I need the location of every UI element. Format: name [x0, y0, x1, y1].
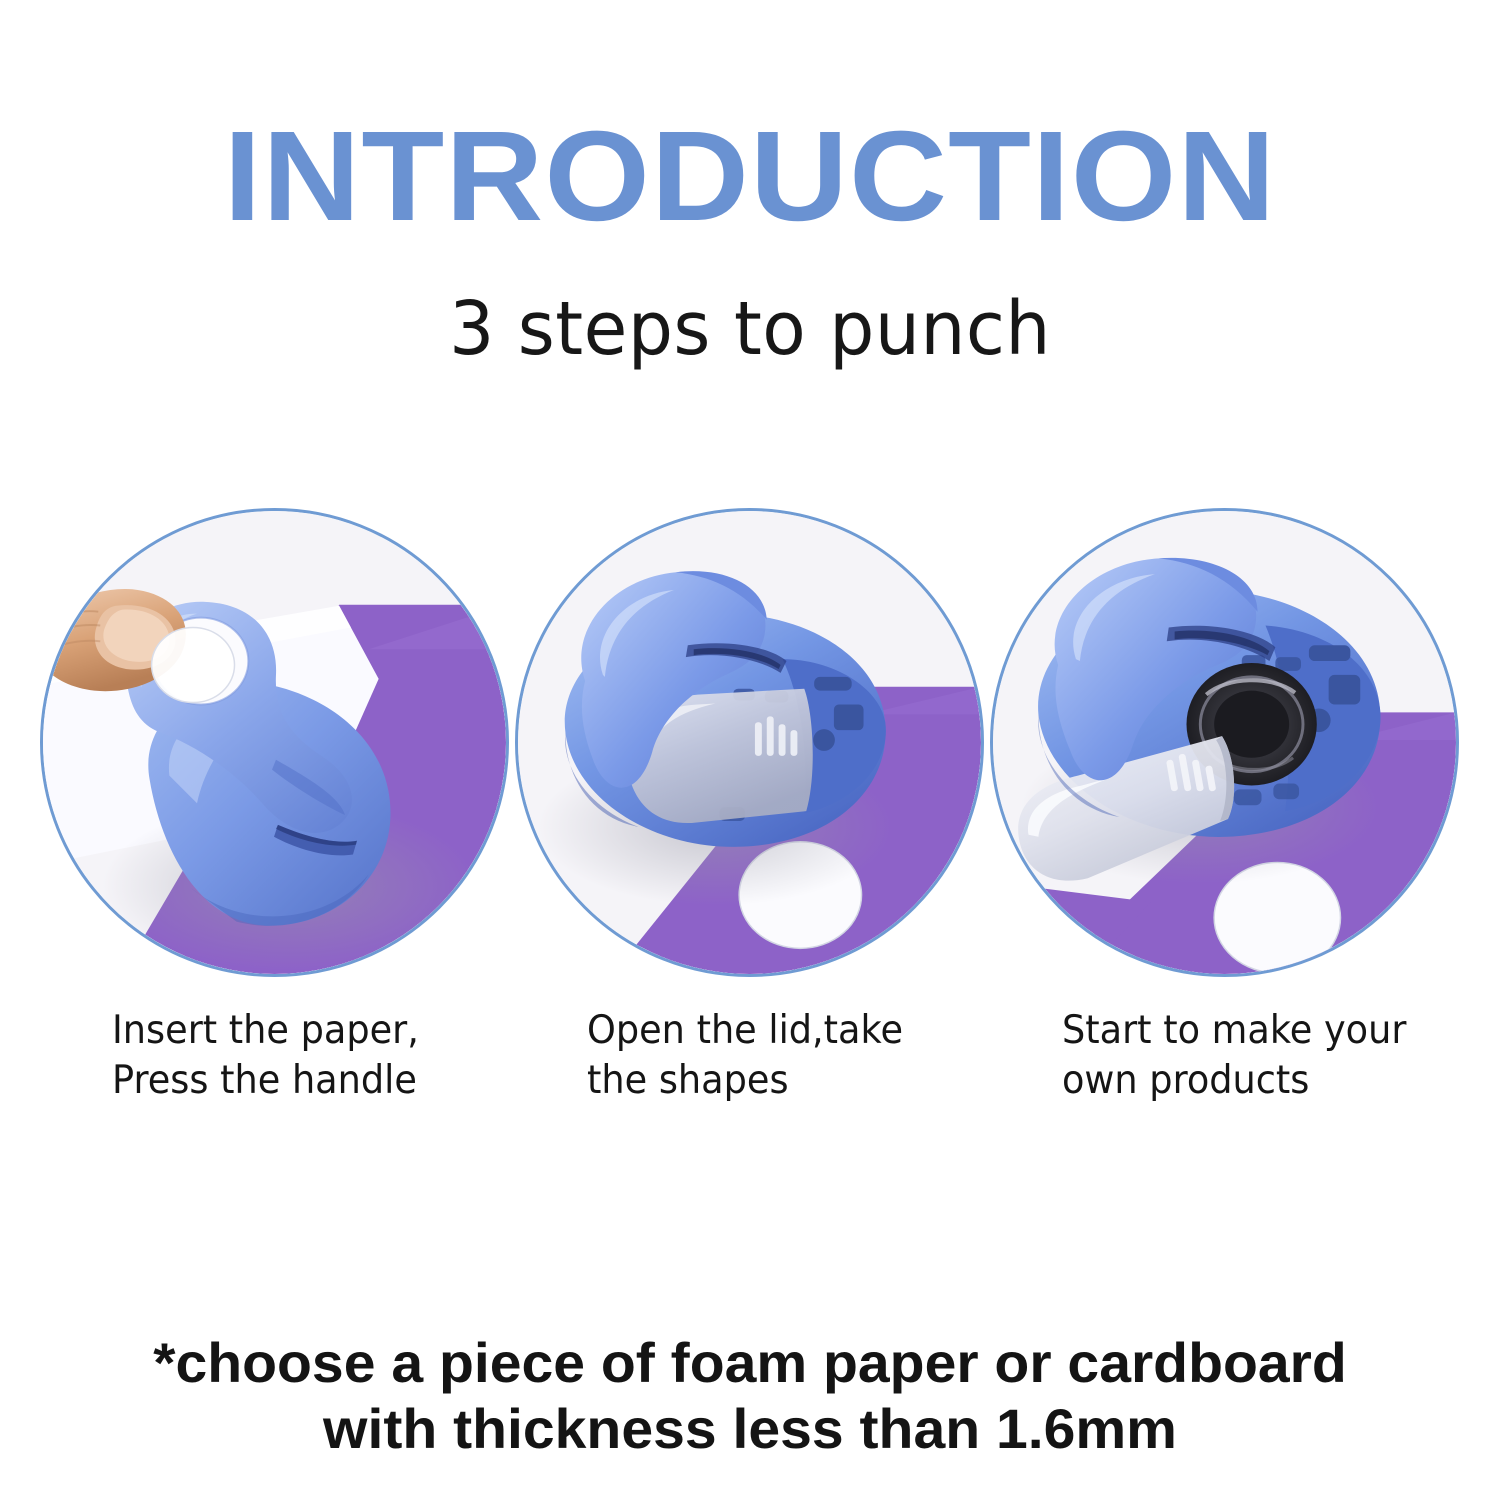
- step-3-caption: Start to make your own products: [1062, 1006, 1457, 1106]
- page-subtitle: 3 steps to punch: [30, 286, 1470, 372]
- step-3-photo-make-products: [990, 508, 1459, 977]
- footnote-line2: with thickness less than 1.6mm: [0, 1396, 1500, 1462]
- footnote: *choose a piece of foam paper or cardboa…: [0, 1330, 1500, 1462]
- step-1-caption-line1: Insert the paper,: [112, 1008, 419, 1053]
- step-2-caption-line2: the shapes: [587, 1056, 982, 1106]
- step-2-illustration: [518, 511, 981, 974]
- page-title: INTRODUCTION: [0, 112, 1500, 242]
- step-3-illustration: [993, 511, 1456, 974]
- step-1: Insert the paper, Press the handle: [40, 508, 510, 1128]
- footnote-line1: *choose a piece of foam paper or cardboa…: [0, 1330, 1500, 1396]
- step-2: Open the lid,take the shapes: [515, 508, 985, 1128]
- step-2-photo-open-lid: [515, 508, 984, 977]
- steps-row: Insert the paper, Press the handle: [0, 508, 1500, 1128]
- step-2-caption: Open the lid,take the shapes: [587, 1006, 982, 1106]
- step-1-illustration: [43, 511, 506, 974]
- step-1-caption: Insert the paper, Press the handle: [112, 1006, 507, 1106]
- step-3-caption-line2: own products: [1062, 1056, 1457, 1106]
- infographic-page: INTRODUCTION 3 steps to punch: [0, 0, 1500, 1500]
- step-3-caption-line1: Start to make your: [1062, 1008, 1406, 1053]
- step-2-caption-line1: Open the lid,take: [587, 1008, 903, 1053]
- step-1-photo-insert-paper: [40, 508, 509, 977]
- step-1-caption-line2: Press the handle: [112, 1056, 507, 1106]
- step-3: Start to make your own products: [990, 508, 1460, 1128]
